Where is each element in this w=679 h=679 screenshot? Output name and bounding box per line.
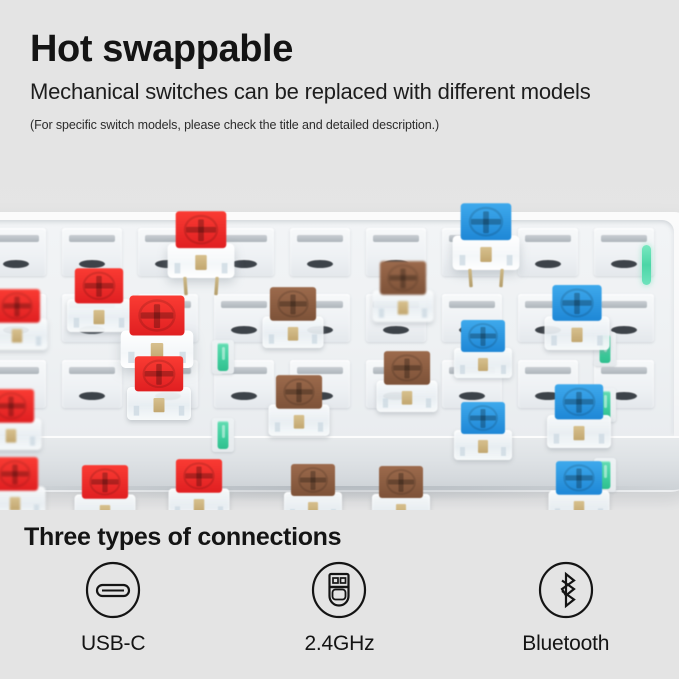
switch-housing [263, 317, 324, 349]
page-title: Hot swappable [30, 30, 650, 70]
header-text-block: Hot swappable Mechanical switches can be… [30, 30, 650, 132]
switch-stem [276, 375, 322, 409]
switch-stem [461, 402, 505, 434]
switch-stem [75, 268, 123, 303]
switch-stem [0, 457, 38, 491]
switch-socket [0, 228, 46, 276]
switch-stem [176, 459, 222, 493]
connection-label-bluetooth: Bluetooth [522, 632, 609, 656]
brown-switch [260, 287, 325, 348]
switch-stem [552, 285, 601, 321]
connection-item-usb-c: USB-C [0, 561, 226, 656]
switch-stem [176, 211, 227, 248]
red-switch [0, 457, 48, 510]
usb-c-icon [84, 561, 142, 619]
brown-switch [282, 464, 344, 510]
connection-label-usb-c: USB-C [81, 632, 145, 656]
switch-stem [380, 261, 426, 295]
switch-housing [373, 291, 434, 323]
switch-housing [0, 419, 41, 451]
switch-housing [453, 236, 520, 271]
connections-title: Three types of connections [24, 523, 341, 552]
connections-section: Three types of connections USB-C [0, 505, 679, 679]
switch-stem [291, 464, 335, 496]
switch-stem [270, 287, 316, 321]
switch-stem [379, 466, 423, 498]
switch-stem [461, 203, 512, 240]
switch-stem [82, 465, 128, 499]
switch-stem [0, 289, 40, 323]
stabilizer-insert [212, 418, 234, 452]
switch-socket [518, 228, 578, 276]
fineprint-note: (For specific switch models, please chec… [30, 118, 650, 132]
led-indicator [642, 245, 651, 285]
red-switch [72, 465, 137, 510]
stabilizer-insert [212, 340, 234, 374]
red-switch [166, 459, 231, 510]
red-switch [0, 389, 44, 450]
switch-stem [135, 356, 183, 391]
bluetooth-icon [537, 561, 595, 619]
red-switch [165, 211, 236, 278]
blue-switch [452, 402, 514, 460]
page-subtitle: Mechanical switches can be replaced with… [30, 80, 650, 104]
switch-stem [461, 320, 505, 352]
brown-switch [370, 466, 432, 510]
connection-item-bluetooth: Bluetooth [453, 561, 679, 656]
switch-housing [547, 415, 611, 448]
switch-stem [555, 384, 603, 419]
connection-label-24ghz: 2.4GHz [304, 632, 374, 656]
switch-housing [0, 319, 47, 351]
usb-dongle-icon [310, 561, 368, 619]
switch-housing [545, 316, 610, 350]
switch-housing [454, 430, 512, 460]
brown-switch [374, 351, 439, 412]
switch-housing [269, 405, 330, 437]
switch-socket [290, 228, 350, 276]
red-switch [0, 289, 50, 350]
blue-switch [545, 384, 613, 448]
switch-stem [556, 461, 602, 495]
blue-switch [546, 461, 611, 510]
switch-housing [377, 381, 438, 413]
product-photo [0, 150, 679, 510]
blue-switch [452, 320, 514, 378]
switch-socket [62, 360, 122, 408]
brown-switch [370, 261, 435, 322]
red-switch [125, 356, 193, 420]
switch-housing [127, 387, 191, 420]
connections-row: USB-C 2.4GHz B [0, 561, 679, 656]
switch-stem [384, 351, 430, 385]
switch-stem [0, 389, 34, 423]
connection-item-24ghz: 2.4GHz [226, 561, 452, 656]
brown-switch [266, 375, 331, 436]
switch-housing [168, 244, 235, 279]
blue-switch [542, 285, 611, 350]
blue-switch [450, 203, 521, 270]
switch-housing [454, 348, 512, 378]
switch-stem [130, 296, 185, 336]
